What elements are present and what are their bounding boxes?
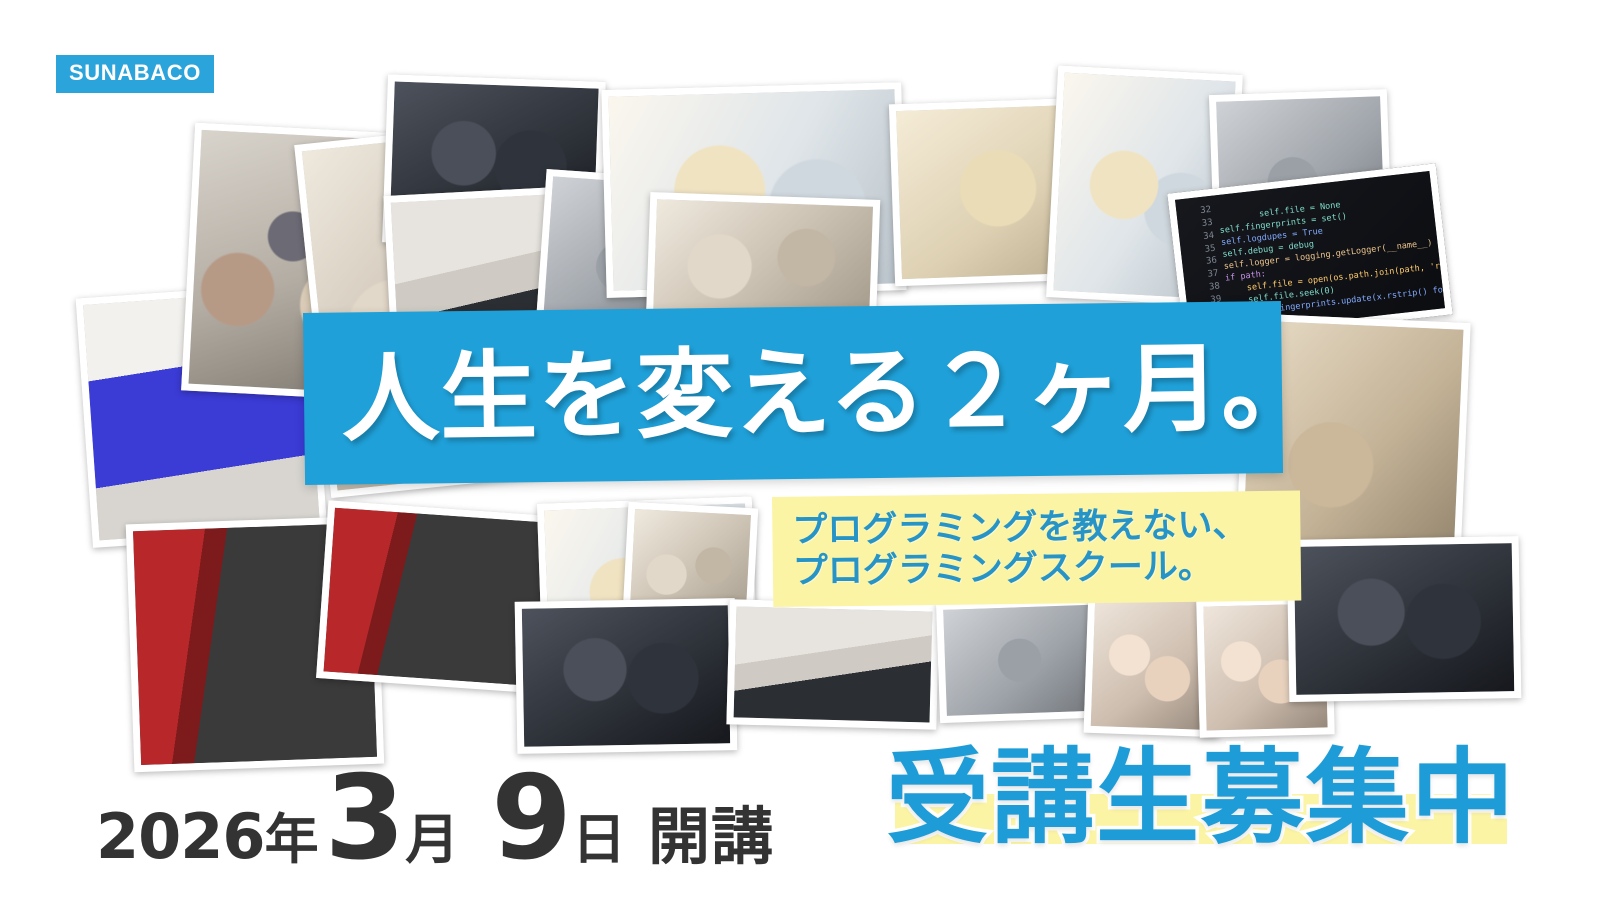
date-day: 9 (491, 773, 570, 866)
date-day-unit: 日 (572, 795, 626, 874)
logo-badge[interactable]: SUNABACO (56, 55, 214, 93)
photo-image (734, 606, 933, 722)
logo-text: SUNABACO (69, 60, 201, 85)
date-month-unit: 月 (405, 795, 459, 874)
photo-two-women-laptop (1287, 536, 1522, 702)
date-year-unit: 年 (265, 795, 319, 874)
headline-banner: 人生を変える２ヶ月。 (303, 301, 1283, 485)
date-month: 3 (325, 773, 404, 866)
photo-image (1294, 543, 1515, 695)
cta-block[interactable]: 受講生募集中 (886, 740, 1514, 872)
subtitle-line-2: プログラミングスクール。 (793, 546, 1301, 594)
date-year: 2026 (96, 800, 265, 873)
photo-man-lenovo-laptop (515, 598, 738, 754)
course-start-date: 2026 年 3 月 9 日 開講 (96, 773, 774, 876)
date-start-label: 開講 (648, 786, 774, 876)
promo-banner: 32 33 34 35 36 37 38 39 40 41 self.file … (0, 0, 1600, 900)
headline-text: 人生を変える２ヶ月。 (303, 338, 1319, 447)
subtitle-line-1: プログラミングを教えない、 (792, 504, 1300, 552)
photo-image (522, 605, 730, 747)
cta-text: 受講生募集中 (886, 747, 1514, 850)
subtitle-box: プログラミングを教えない、 プログラミングスクール。 (772, 491, 1301, 607)
photo-tablet-hands (726, 599, 939, 729)
